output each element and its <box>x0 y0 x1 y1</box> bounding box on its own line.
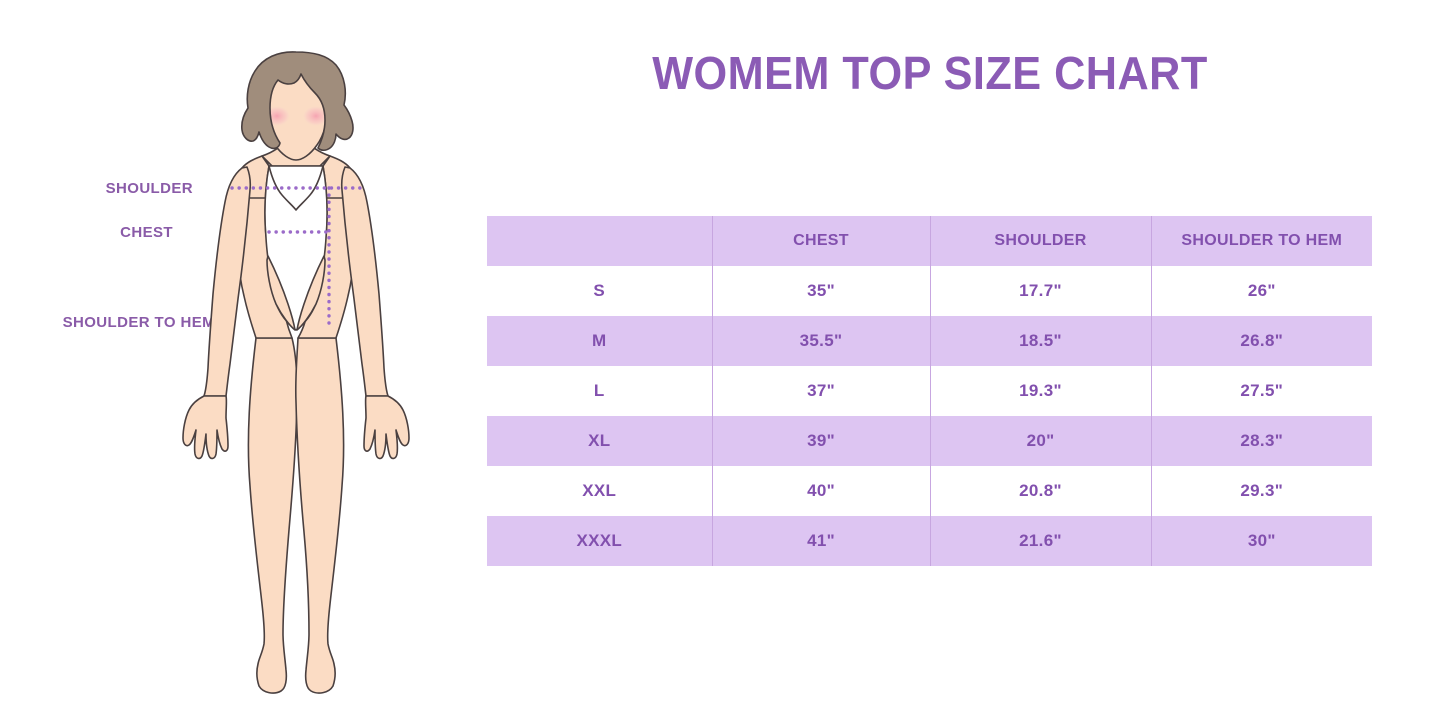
table-row: L 37" 19.3" 27.5" <box>487 366 1372 416</box>
measure-label-chest: CHEST <box>0 224 173 241</box>
cell-size: M <box>487 316 712 366</box>
column-header-size <box>487 216 712 266</box>
cell-shoulder: 18.5" <box>930 316 1151 366</box>
cell-shoulder-to-hem: 26.8" <box>1151 316 1372 366</box>
cell-chest: 35" <box>712 266 930 316</box>
size-chart-table: CHEST SHOULDER SHOULDER TO HEM S 35" 17.… <box>487 216 1372 566</box>
table-row: XL 39" 20" 28.3" <box>487 416 1372 466</box>
legs-shape <box>248 338 343 693</box>
cell-chest: 35.5" <box>712 316 930 366</box>
cell-shoulder-to-hem: 30" <box>1151 516 1372 566</box>
table-header-row: CHEST SHOULDER SHOULDER TO HEM <box>487 216 1372 266</box>
column-header-shoulder: SHOULDER <box>930 216 1151 266</box>
cell-size: XXXL <box>487 516 712 566</box>
cell-shoulder: 19.3" <box>930 366 1151 416</box>
cell-shoulder-to-hem: 29.3" <box>1151 466 1372 516</box>
cell-chest: 37" <box>712 366 930 416</box>
table-row: S 35" 17.7" 26" <box>487 266 1372 316</box>
page-title: WOMEM TOP SIZE CHART <box>498 48 1363 99</box>
cell-shoulder: 20" <box>930 416 1151 466</box>
cell-chest: 39" <box>712 416 930 466</box>
cell-size: XXL <box>487 466 712 516</box>
cell-size: L <box>487 366 712 416</box>
cell-shoulder: 20.8" <box>930 466 1151 516</box>
figure-panel: SHOULDER CHEST SHOULDER TO HEM <box>0 0 470 723</box>
cell-shoulder-to-hem: 27.5" <box>1151 366 1372 416</box>
cell-chest: 40" <box>712 466 930 516</box>
cell-shoulder: 21.6" <box>930 516 1151 566</box>
table-row: XXL 40" 20.8" 29.3" <box>487 466 1372 516</box>
female-body-illustration <box>170 38 420 698</box>
measure-label-shoulder: SHOULDER <box>0 180 193 197</box>
table-row: XXXL 41" 21.6" 30" <box>487 516 1372 566</box>
table-row: M 35.5" 18.5" 26.8" <box>487 316 1372 366</box>
cell-chest: 41" <box>712 516 930 566</box>
cell-size: S <box>487 266 712 316</box>
column-header-shoulder-to-hem: SHOULDER TO HEM <box>1151 216 1372 266</box>
cell-size: XL <box>487 416 712 466</box>
cell-shoulder-to-hem: 28.3" <box>1151 416 1372 466</box>
column-header-chest: CHEST <box>712 216 930 266</box>
cell-shoulder: 17.7" <box>930 266 1151 316</box>
cell-shoulder-to-hem: 26" <box>1151 266 1372 316</box>
